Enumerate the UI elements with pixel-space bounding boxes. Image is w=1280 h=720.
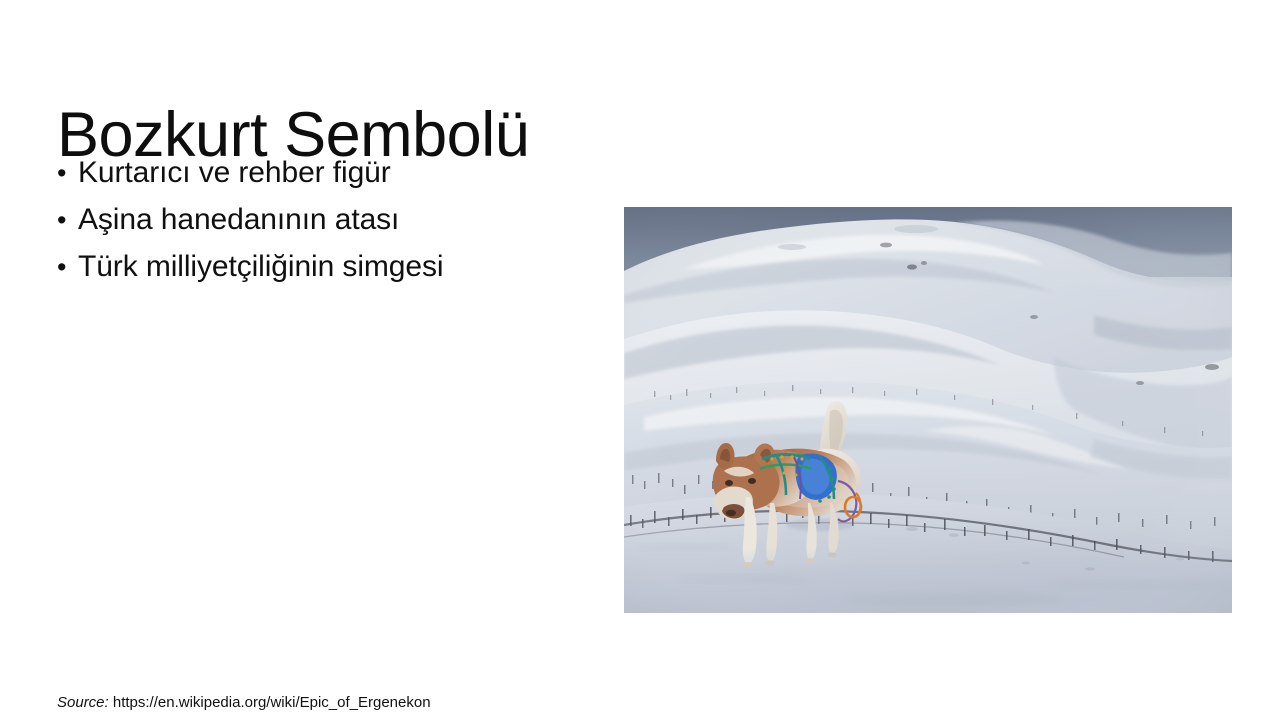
list-item-label: Türk milliyetçiliğinin simgesi bbox=[78, 247, 443, 287]
source-caption: Source: https://en.wikipedia.org/wiki/Ep… bbox=[57, 693, 431, 713]
bullet-icon: • bbox=[57, 200, 78, 240]
wolf-dog-snow-photo bbox=[624, 207, 1232, 613]
list-item: • Türk milliyetçiliğinin simgesi bbox=[57, 247, 577, 294]
bullet-list: • Kurtarıcı ve rehber figür • Aşina hane… bbox=[57, 153, 577, 294]
bullet-icon: • bbox=[57, 247, 78, 287]
list-item-label: Kurtarıcı ve rehber figür bbox=[78, 153, 391, 193]
list-item: • Kurtarıcı ve rehber figür bbox=[57, 153, 577, 200]
slide-canvas: Bozkurt Sembolü • Kurtarıcı ve rehber fi… bbox=[0, 0, 1280, 720]
source-url[interactable]: https://en.wikipedia.org/wiki/Epic_of_Er… bbox=[113, 694, 431, 711]
list-item: • Aşina hanedanının atası bbox=[57, 200, 577, 247]
list-item-label: Aşina hanedanının atası bbox=[78, 200, 399, 240]
slide-photo bbox=[624, 207, 1232, 613]
bullet-icon: • bbox=[57, 153, 78, 193]
source-label: Source: bbox=[57, 694, 109, 711]
